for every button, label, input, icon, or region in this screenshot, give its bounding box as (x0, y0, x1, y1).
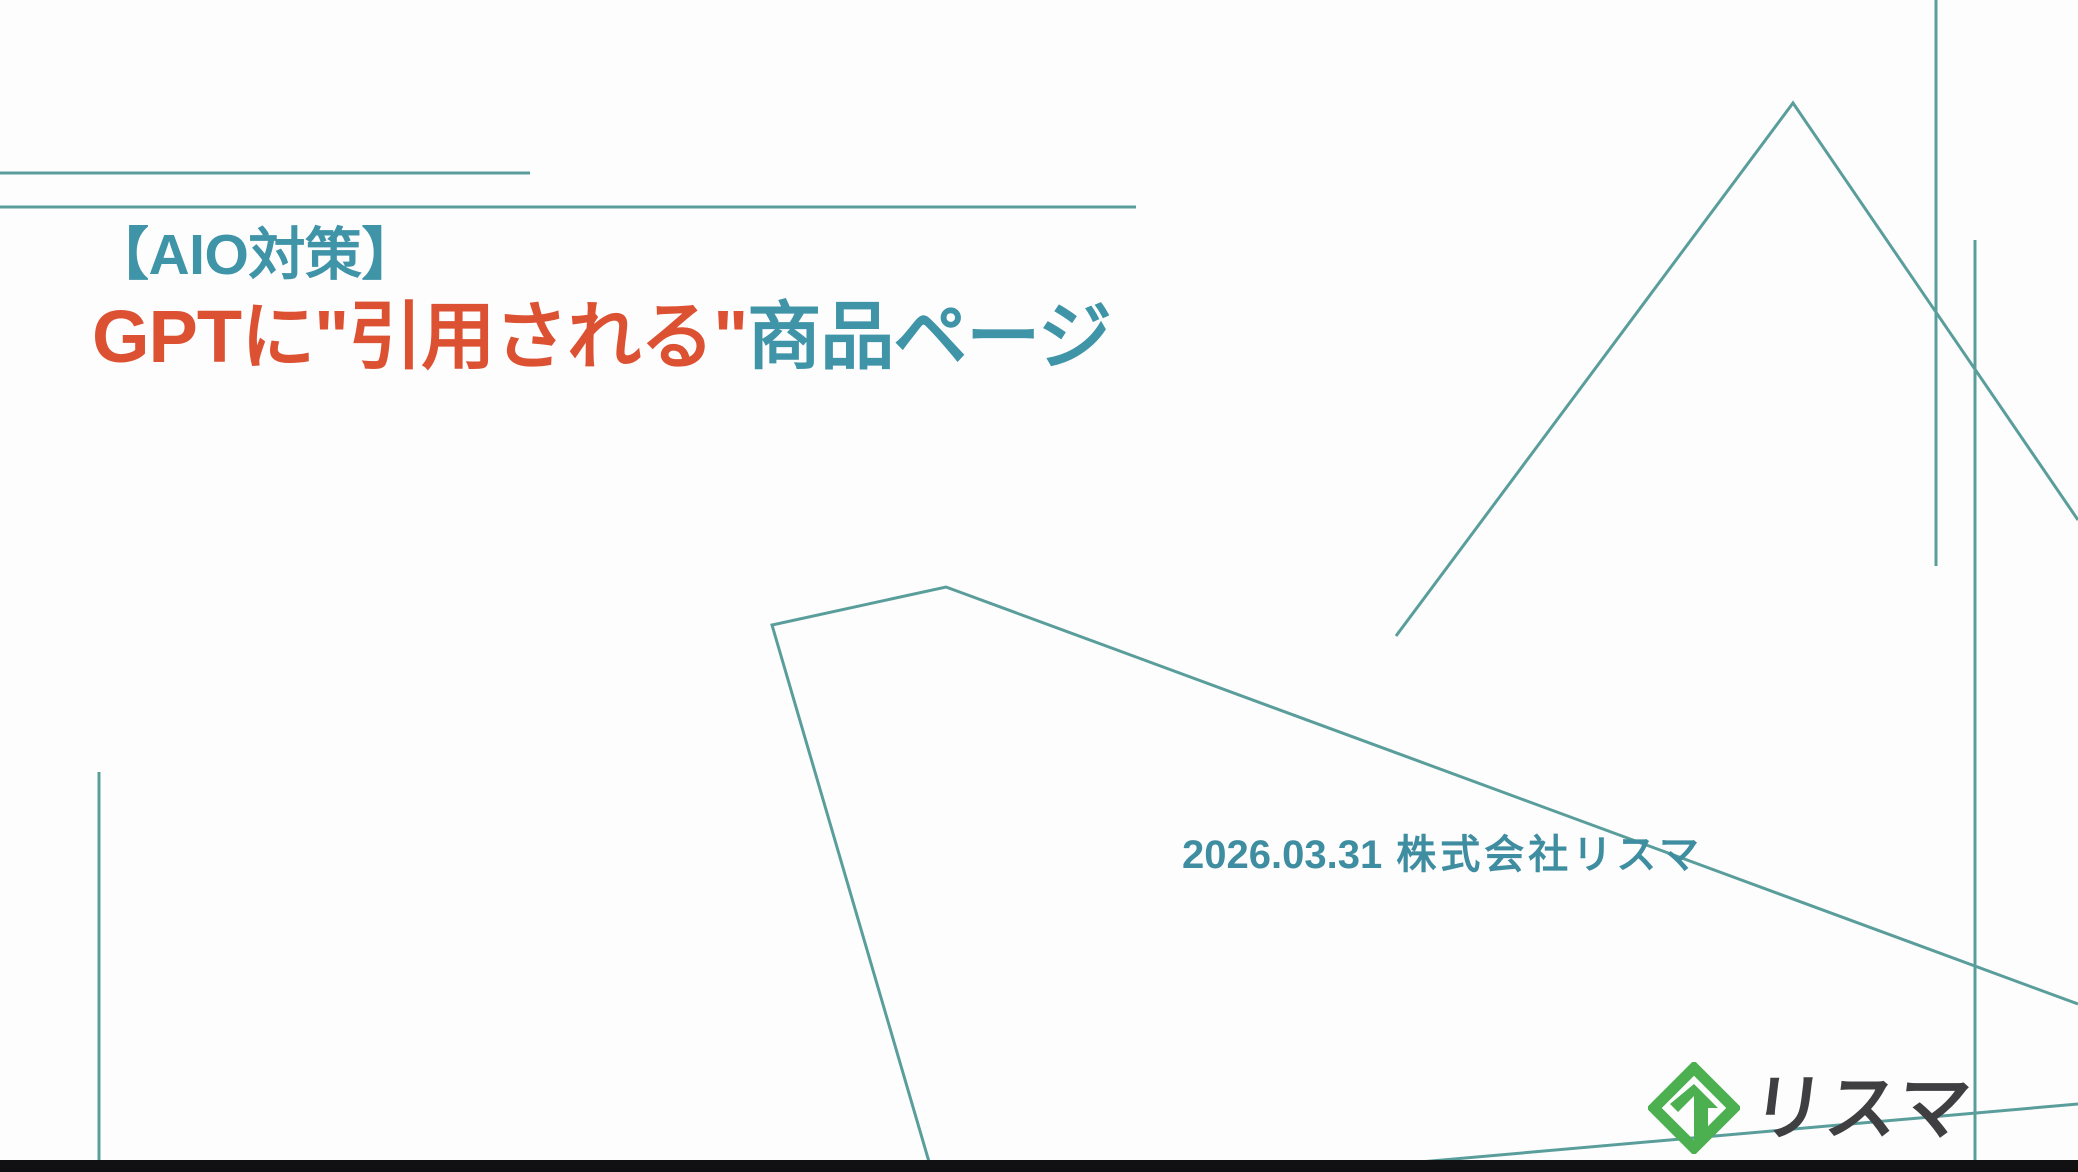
presentation-date: 2026.03.31 (1182, 833, 1382, 877)
title-slide: 【AIO対策】 GPTに"引用される"商品ページ 2026.03.31株式会社リ… (0, 0, 2078, 1172)
logo-wordmark: リスマ (1748, 1072, 1977, 1144)
shape-upper-quad (1396, 103, 2078, 636)
headline-teal-text: 商品ページ (747, 295, 1111, 378)
background-decoration (0, 0, 2078, 1172)
bottom-bar (0, 1160, 2078, 1172)
slide-meta: 2026.03.31株式会社リスマ (1182, 822, 1703, 880)
company-name: 株式会社リスマ (1396, 833, 1703, 877)
brand-logo: リスマ (1648, 1062, 1972, 1154)
headline-accent-text: GPTに"引用される" (92, 295, 747, 378)
title-block: 【AIO対策】 GPTに"引用される"商品ページ (92, 222, 1392, 382)
page-title: GPTに"引用される"商品ページ (92, 293, 1392, 382)
diamond-arrow-icon (1648, 1062, 1740, 1154)
eyebrow-label: 【AIO対策】 (92, 222, 1392, 289)
